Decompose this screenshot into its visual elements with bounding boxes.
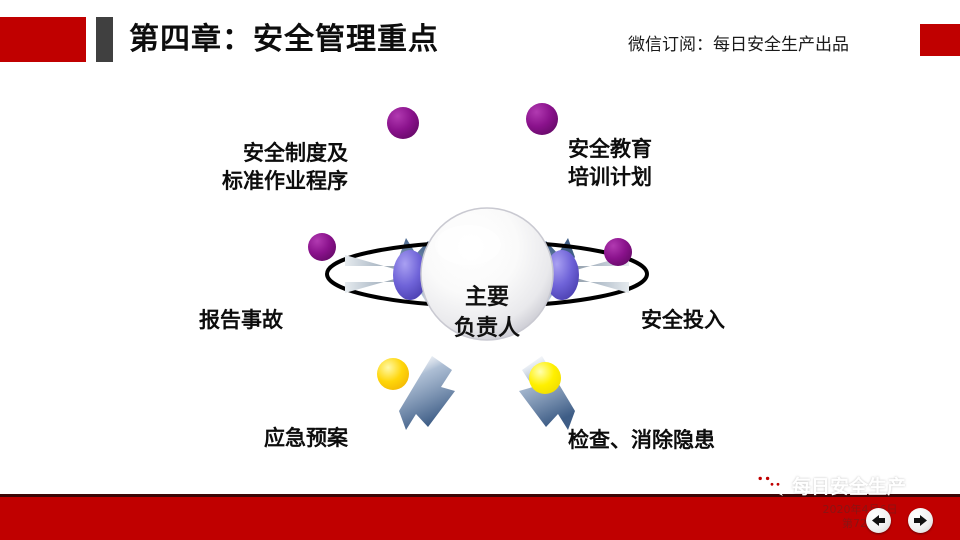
page-title: 第四章：安全管理重点	[129, 20, 439, 60]
node-label-top-left: 安全制度及 标准作业程序	[222, 139, 348, 195]
prev-slide-button[interactable]	[866, 508, 891, 533]
wechat-account-name: 每日安全生产	[792, 472, 906, 499]
node-dot-left	[308, 233, 336, 261]
node-dot-bottom-right	[529, 362, 561, 394]
header-gray-tab	[96, 17, 113, 62]
node-dot-top-right	[526, 103, 558, 135]
radial-diagram: 安全制度及 标准作业程序 安全教育 培训计划 报告事故 安全投入 应急预案 检查…	[0, 60, 960, 460]
node-dot-top-left	[387, 107, 419, 139]
node-label-left: 报告事故	[199, 306, 283, 334]
node-dot-right	[604, 238, 632, 266]
wechat-brand: 每日安全生产	[752, 470, 906, 500]
diagram-canvas	[0, 60, 960, 460]
center-label-line1: 主要	[432, 282, 542, 313]
subscription-note: 微信订阅：每日安全生产出品	[628, 30, 849, 55]
header-red-block-left	[0, 17, 86, 62]
wechat-icon	[752, 470, 786, 500]
node-label-bottom-left: 应急预案	[264, 424, 348, 452]
node-dot-bottom-left	[377, 358, 409, 390]
sphere-highlight	[435, 225, 501, 265]
footer-issue-meta: 2020年4月6日 第72期	[800, 503, 920, 531]
center-node-label: 主要 负责人	[432, 282, 542, 344]
slide-root: 第四章：安全管理重点 微信订阅：每日安全生产出品	[0, 0, 960, 540]
node-label-right: 安全投入	[641, 306, 725, 334]
header-red-block-right	[920, 24, 960, 56]
center-label-line2: 负责人	[432, 313, 542, 344]
arrow-right-icon	[913, 514, 928, 527]
arrow-left-icon	[871, 514, 886, 527]
node-label-bottom-right: 检查、消除隐患	[568, 426, 715, 454]
next-slide-button[interactable]	[908, 508, 933, 533]
node-label-top-right: 安全教育 培训计划	[568, 135, 652, 191]
